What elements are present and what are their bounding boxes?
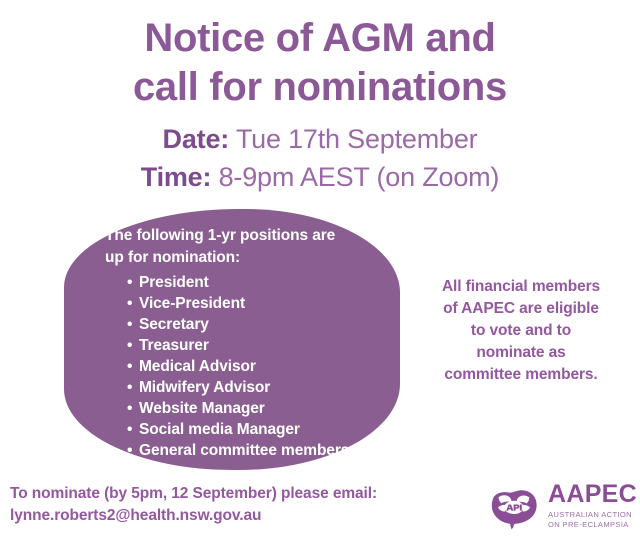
position-list-item-label: Social media Manager: [139, 421, 300, 438]
position-list-item-label: Website Manager: [139, 400, 265, 417]
eligibility-note-line-3: to vote and to: [410, 320, 632, 342]
position-list-item: •Medical Advisor: [127, 356, 391, 377]
page-title-line-1: Notice of AGM and: [0, 14, 640, 63]
event-date-value: Tue 17th September: [236, 124, 478, 154]
position-list-item-label: Medical Advisor: [139, 358, 256, 375]
position-list-item-label: President: [139, 274, 209, 291]
eligibility-note-line-2: of AAPEC are eligible: [410, 298, 632, 320]
eligibility-note: All financial members of AAPEC are eligi…: [410, 276, 632, 386]
event-time-value: 8-9pm AEST (on Zoom): [219, 162, 500, 192]
event-date-label: Date:: [163, 124, 230, 154]
position-list-item-label: Treasurer: [139, 337, 209, 354]
aapec-logo-text: AAPEC AUSTRALIAN ACTION ON PRE-ECLAMPSIA: [548, 482, 637, 529]
positions-panel: The following 1-yr positions are up for …: [64, 209, 400, 470]
eligibility-note-line-4: nominate as: [410, 342, 632, 364]
event-time-row: Time: 8-9pm AEST (on Zoom): [0, 160, 640, 195]
aapec-logo-tagline-line-2: ON PRE-ECLAMPSIA: [548, 520, 637, 530]
aapec-logo-tagline-line-1: AUSTRALIAN ACTION: [548, 510, 637, 520]
position-list-item-label: Midwifery Advisor: [139, 379, 270, 396]
eligibility-note-line-5: committee members.: [410, 364, 632, 386]
position-list-item-label: Secretary: [139, 316, 209, 333]
positions-list: •President•Vice-President•Secretary•Trea…: [105, 272, 391, 461]
position-list-item: •Treasurer: [127, 335, 391, 356]
nomination-email-address[interactable]: lynne.roberts2@health.nsw.gov.au: [10, 505, 480, 527]
bullet-icon: •: [127, 440, 132, 461]
position-list-item: •President: [127, 272, 391, 293]
position-list-item: •General committee members: [127, 440, 391, 461]
bullet-icon: •: [127, 398, 132, 419]
nomination-instructions: To nominate (by 5pm, 12 September) pleas…: [10, 483, 480, 528]
positions-intro: The following 1-yr positions are up for …: [105, 225, 391, 270]
poster-canvas: Notice of AGM and call for nominations D…: [0, 0, 640, 537]
aapec-logo: AAPEC AUSTRALIAN ACTION ON PRE-ECLAMPSIA: [486, 479, 636, 533]
position-list-item: •Social media Manager: [127, 419, 391, 440]
event-time-label: Time:: [141, 162, 212, 192]
bullet-icon: •: [127, 293, 132, 314]
nomination-deadline-line: To nominate (by 5pm, 12 September) pleas…: [10, 483, 480, 505]
australia-map-hands-icon: [486, 481, 542, 531]
page-title: Notice of AGM and call for nominations: [0, 14, 640, 112]
position-list-item: •Secretary: [127, 314, 391, 335]
position-list-item: •Vice-President: [127, 293, 391, 314]
positions-panel-content: The following 1-yr positions are up for …: [105, 225, 391, 461]
position-list-item: •Midwifery Advisor: [127, 377, 391, 398]
positions-intro-line-2: up for nomination:: [105, 247, 391, 269]
positions-intro-line-1: The following 1-yr positions are: [105, 225, 391, 247]
bullet-icon: •: [127, 272, 132, 293]
aapec-logo-name: AAPEC: [548, 482, 637, 507]
aapec-logo-tagline: AUSTRALIAN ACTION ON PRE-ECLAMPSIA: [548, 510, 637, 529]
bullet-icon: •: [127, 335, 132, 356]
bullet-icon: •: [127, 356, 132, 377]
position-list-item-label: Vice-President: [139, 295, 245, 312]
bullet-icon: •: [127, 314, 132, 335]
event-date-row: Date: Tue 17th September: [0, 122, 640, 157]
position-list-item-label: General committee members: [139, 442, 349, 459]
eligibility-note-line-1: All financial members: [410, 276, 632, 298]
position-list-item: •Website Manager: [127, 398, 391, 419]
bullet-icon: •: [127, 377, 132, 398]
bullet-icon: •: [127, 419, 132, 440]
page-title-line-2: call for nominations: [0, 63, 640, 112]
